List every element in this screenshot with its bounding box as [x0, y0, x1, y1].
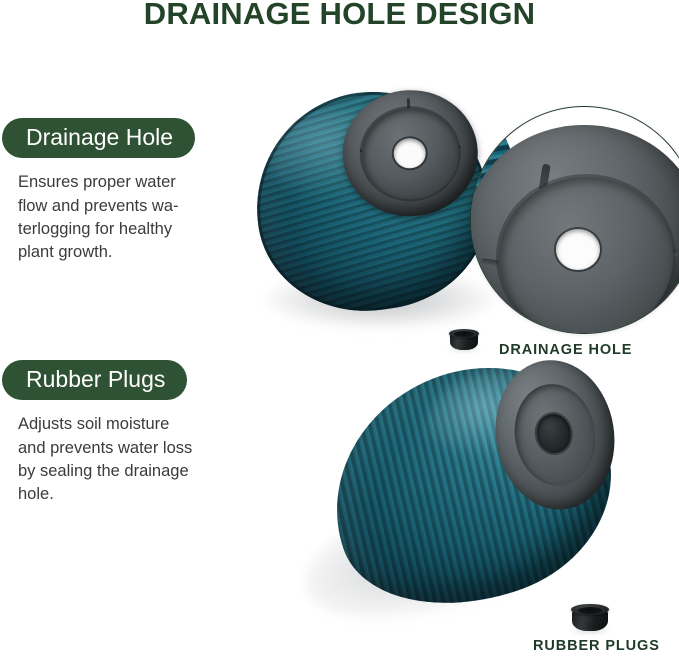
caption-rubber-plugs: RUBBER PLUGS — [533, 638, 660, 654]
magnifier-circle-icon — [470, 106, 679, 334]
feature-text-line: Ensures proper water — [18, 171, 228, 194]
feature-block-drainage-hole: Drainage Hole Ensures proper water flow … — [0, 118, 250, 265]
feature-text-line: terlogging for healthy — [18, 218, 228, 241]
plug-bore — [578, 607, 602, 614]
feature-text-line: Adjusts soil moisture — [18, 413, 228, 436]
caption-drainage-hole: DRAINAGE HOLE — [499, 342, 632, 358]
rubber-plug-icon — [450, 329, 478, 350]
feature-text-drainage-hole: Ensures proper water flow and prevents w… — [18, 171, 228, 265]
feature-text-rubber-plugs: Adjusts soil moisture and prevents water… — [18, 413, 228, 507]
feature-text-line: hole. — [18, 483, 228, 506]
feature-text-line: and prevents water loss — [18, 437, 228, 460]
feature-text-line: plant growth. — [18, 241, 228, 264]
feature-badge-drainage-hole: Drainage Hole — [2, 118, 195, 158]
feature-text-line: by sealing the drainage — [18, 460, 228, 483]
magnified-base-disc — [470, 125, 679, 334]
feature-badge-rubber-plugs: Rubber Plugs — [2, 360, 187, 400]
product-art-stage — [0, 0, 679, 657]
rubber-plug-icon — [572, 604, 608, 631]
feature-block-rubber-plugs: Rubber Plugs Adjusts soil moisture and p… — [0, 360, 250, 507]
infographic-root: DRAINAGE HOLE DESIGN — [0, 0, 679, 657]
plug-bore — [454, 331, 473, 336]
feature-text-line: flow and prevents wa- — [18, 195, 228, 218]
top-planter-image — [242, 77, 502, 325]
